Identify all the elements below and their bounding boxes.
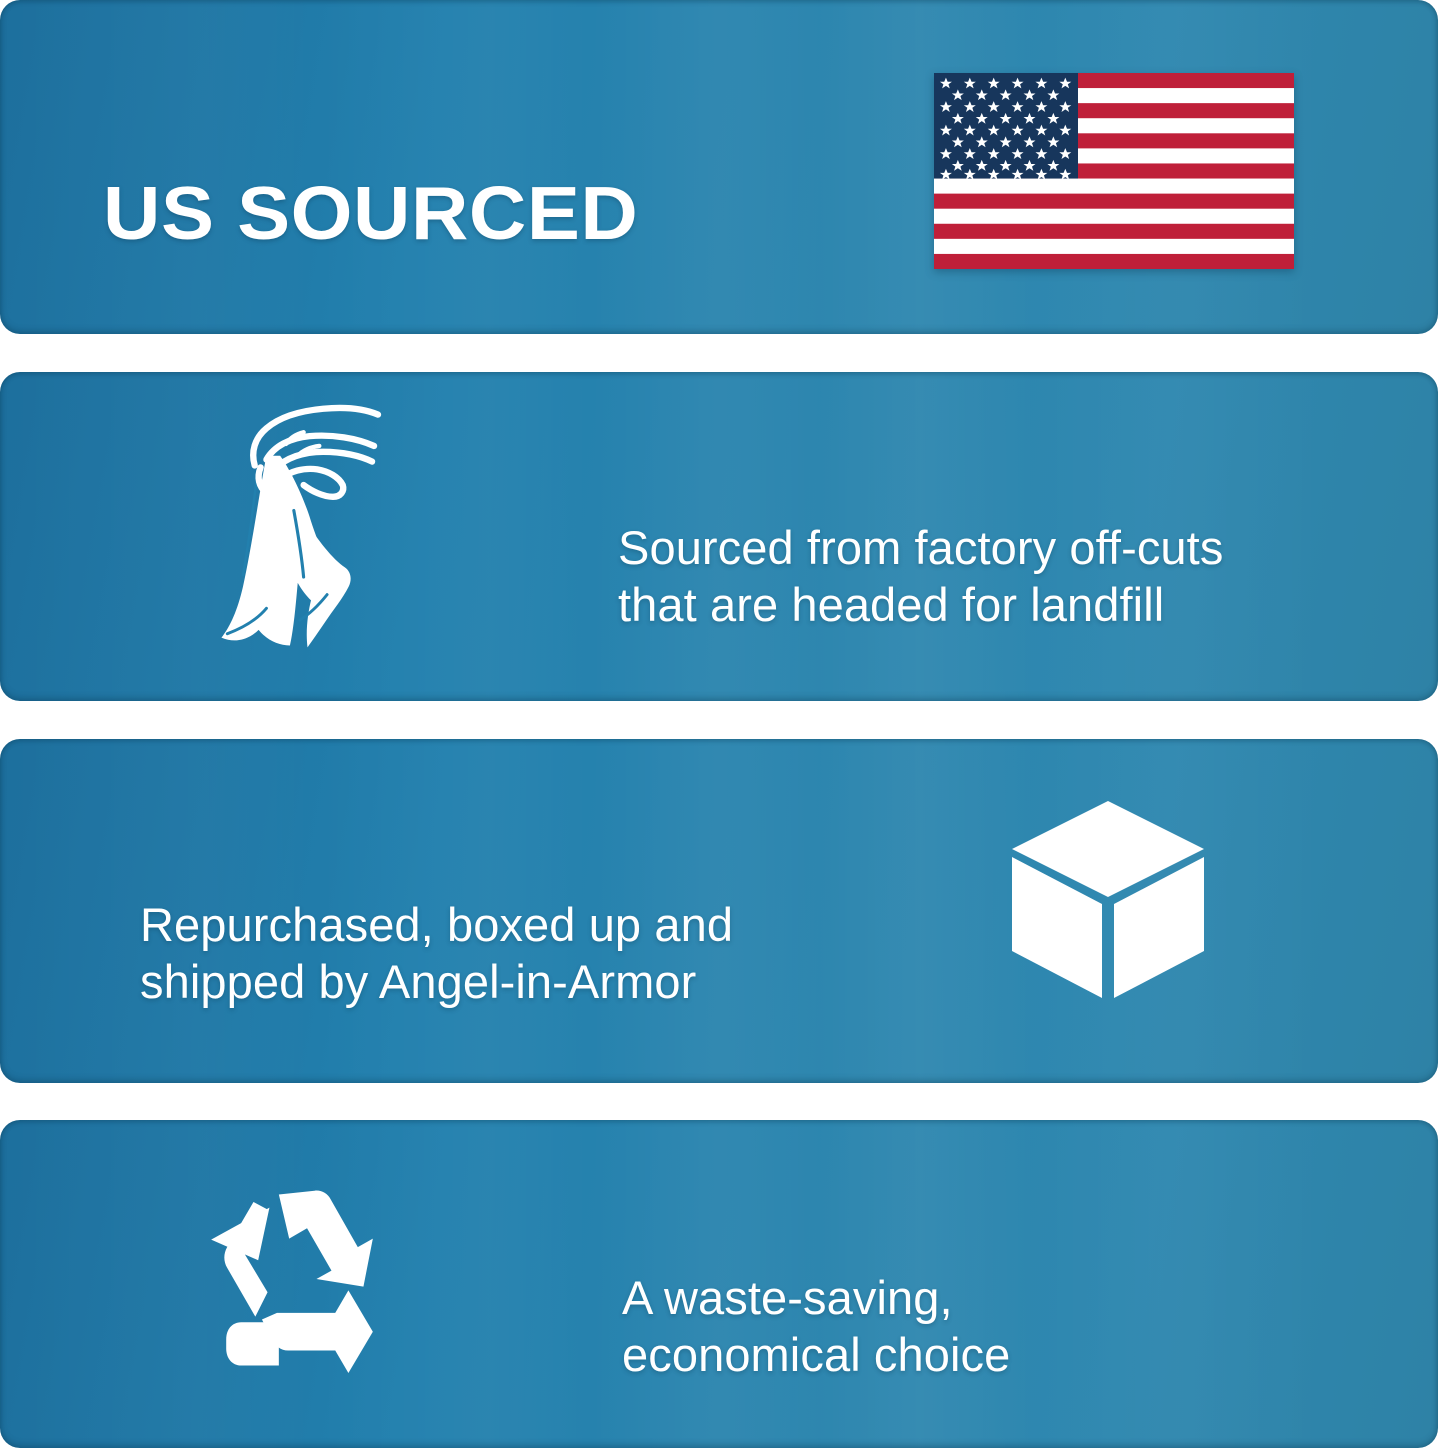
hand-holding-cloth-icon: [196, 392, 421, 672]
panel-factory-offcuts: Sourced from factory off-cuts that are h…: [0, 372, 1438, 701]
panel-us-sourced: US SOURCED: [0, 0, 1438, 334]
panel-text-factory-offcuts: Sourced from factory off-cuts that are h…: [618, 519, 1223, 634]
panel-text-repurchased-shipped: Repurchased, boxed up and shipped by Ang…: [140, 896, 733, 1011]
recycle-icon: [198, 1180, 386, 1380]
us-flag-icon: [934, 73, 1294, 269]
panel-repurchased-shipped: Repurchased, boxed up and shipped by Ang…: [0, 739, 1438, 1083]
infographic-root: US SOURCED: [0, 0, 1445, 1449]
shipping-box-icon: [1008, 797, 1208, 1002]
page-title: US SOURCED: [103, 176, 638, 251]
panel-text-waste-saving: A waste-saving, economical choice: [622, 1269, 1010, 1384]
panel-waste-saving: A waste-saving, economical choice: [0, 1120, 1438, 1448]
